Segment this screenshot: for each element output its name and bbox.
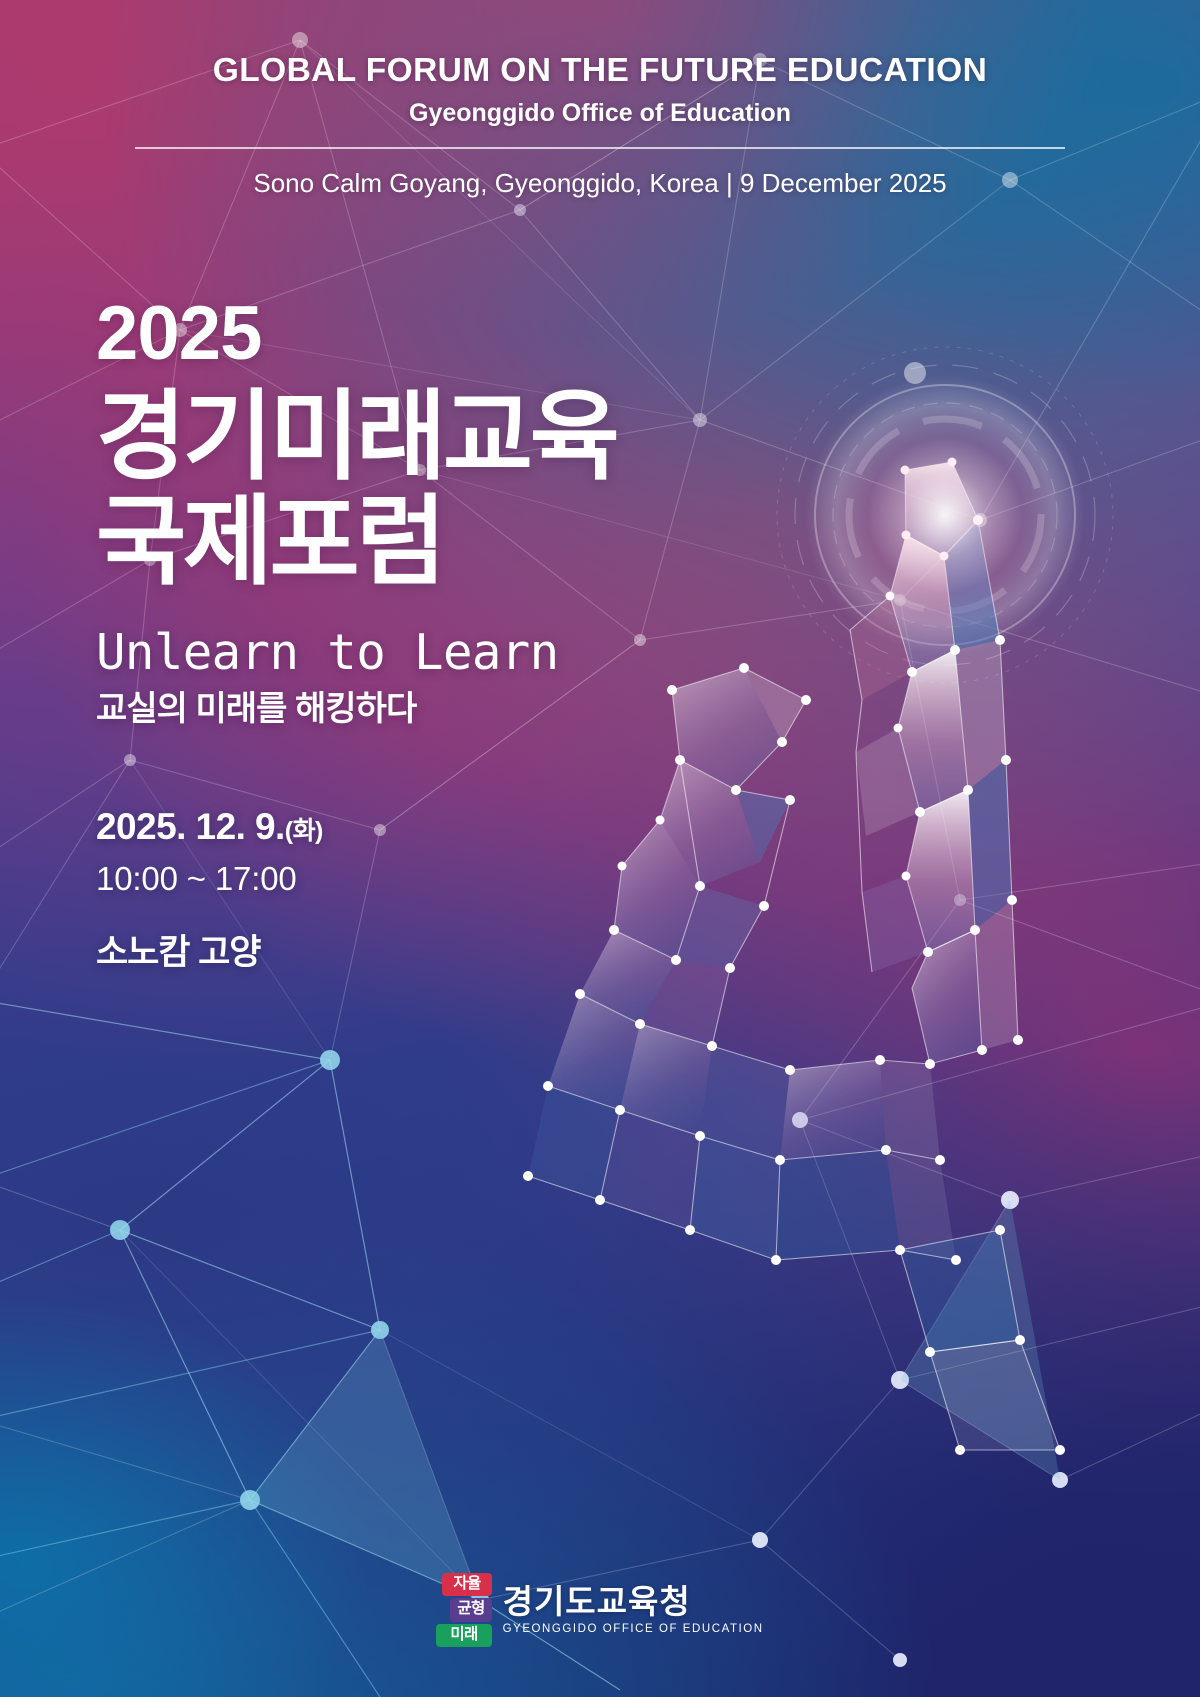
- slogan-ko: 교실의 미래를 해킹하다: [96, 692, 616, 726]
- organizer-en: Gyeonggido Office of Education: [0, 99, 1200, 128]
- event-date-text: 2025. 12. 9.: [96, 806, 285, 847]
- event-title-ko-line2: 국제포럼: [96, 489, 616, 594]
- event-time: 10:00 ~ 17:00: [96, 862, 616, 895]
- header-divider: [135, 147, 1065, 149]
- slogan-badges: 자율 균형 미래: [436, 1573, 491, 1647]
- poster-header: GLOBAL FORUM ON THE FUTURE EDUCATION Gye…: [0, 52, 1200, 199]
- forum-title-en: GLOBAL FORUM ON THE FUTURE EDUCATION: [0, 52, 1200, 90]
- org-name-en: GYEONGGIDO OFFICE OF EDUCATION: [503, 1623, 764, 1635]
- org-name-ko: 경기도교육청: [503, 1585, 691, 1620]
- badge-jayul: 자율: [442, 1573, 491, 1596]
- event-title-ko-line1: 경기미래교육: [96, 384, 616, 489]
- event-info: 2025. 12. 9.(화) 10:00 ~ 17:00 소노캄 고양: [96, 808, 616, 970]
- organization-logo-text: 경기도교육청 GYEONGGIDO OFFICE OF EDUCATION: [503, 1585, 764, 1636]
- venue-date-en: Sono Calm Goyang, Gyeonggido, Korea | 9 …: [0, 168, 1200, 199]
- main-content: 2025 경기미래교육 국제포럼 Unlearn to Learn 교실의 미래…: [96, 296, 616, 970]
- event-venue: 소노캄 고양: [96, 935, 616, 970]
- event-date: 2025. 12. 9.(화): [96, 808, 616, 845]
- event-day-of-week: (화): [285, 817, 323, 845]
- event-title-ko: 경기미래교육 국제포럼: [96, 384, 616, 594]
- slogan-en: Unlearn to Learn: [96, 628, 616, 677]
- badge-mirae: 미래: [436, 1624, 491, 1647]
- poster: GLOBAL FORUM ON THE FUTURE EDUCATION Gye…: [0, 0, 1200, 1697]
- badge-gyunhyeong: 균형: [450, 1598, 491, 1621]
- footer-logo: 자율 균형 미래 경기도교육청 GYEONGGIDO OFFICE OF EDU…: [0, 1573, 1200, 1647]
- event-year: 2025: [96, 296, 616, 372]
